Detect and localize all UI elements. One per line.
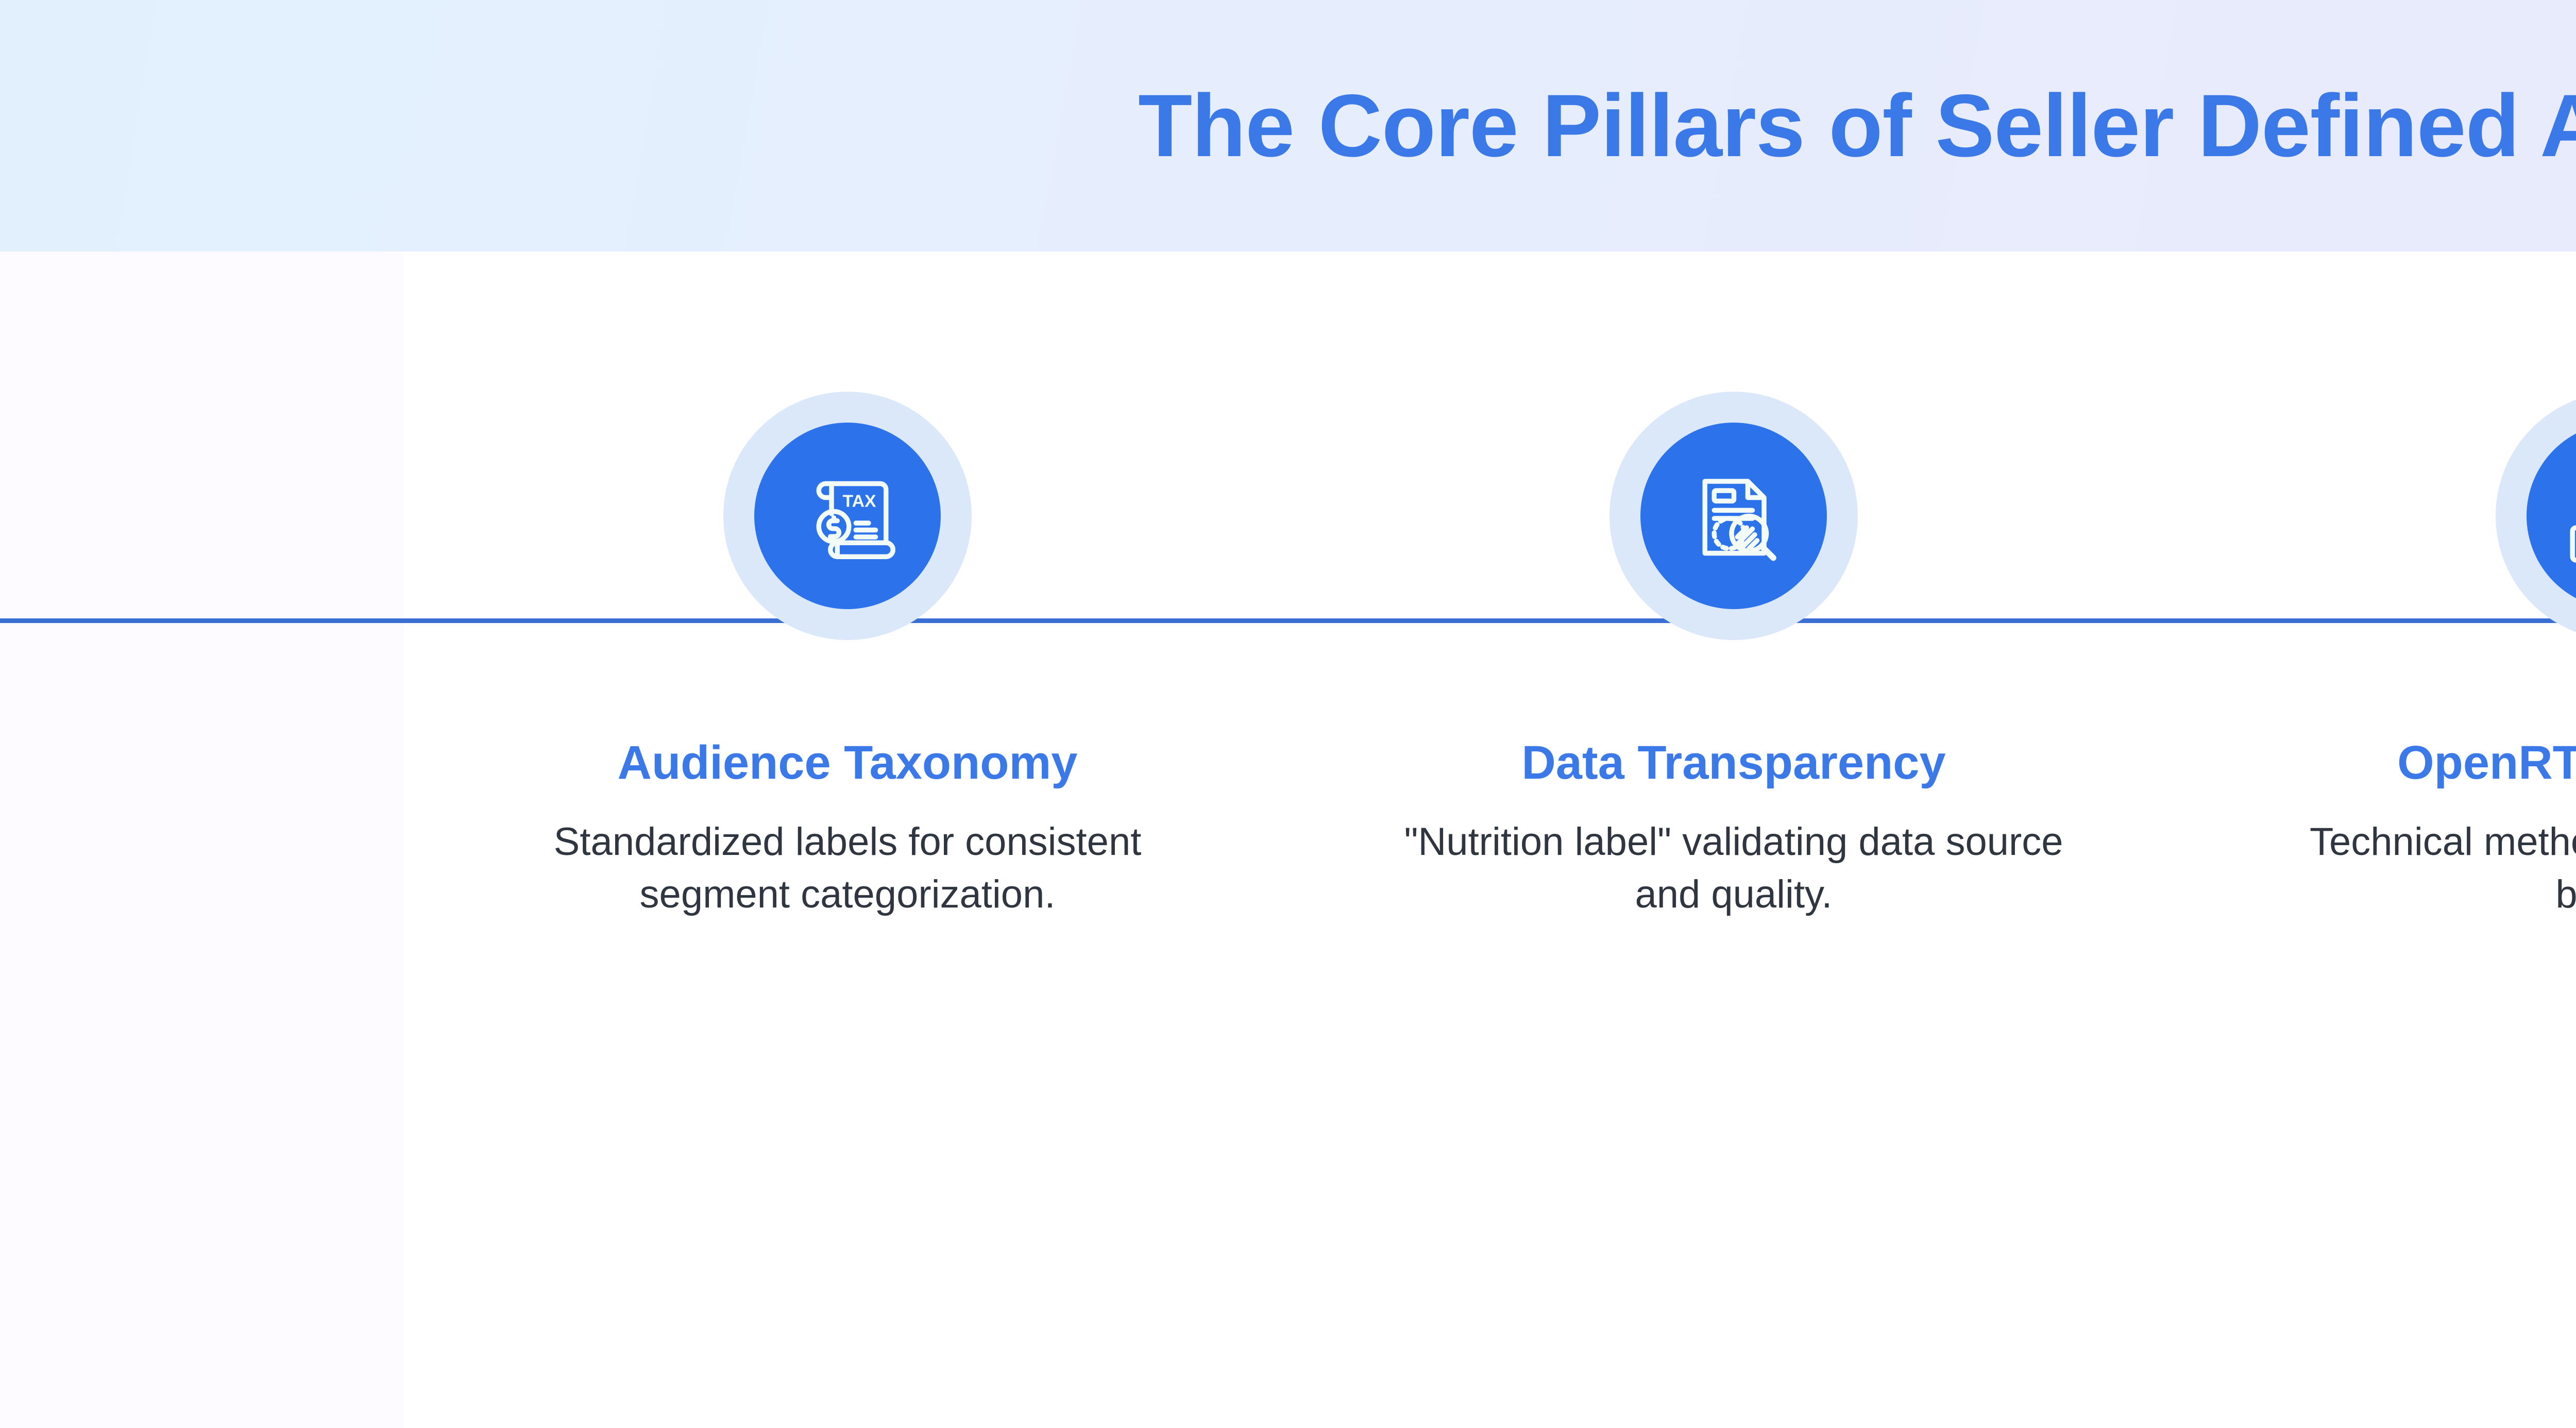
icon-ring <box>2496 392 2576 640</box>
pillar-openrtb-signaling[interactable]: OpenRTB Signaling Technical method for p… <box>2177 251 2576 1428</box>
pillar-audience-taxonomy[interactable]: TAX Audience Taxonomy Standardized label… <box>404 251 1291 1428</box>
header-banner: The Core Pillars of Seller Defined Audie… <box>0 0 2576 251</box>
pillar-description: Technical method for passing IDs to buye… <box>2285 816 2576 921</box>
icon-disc <box>2527 423 2576 609</box>
pillar-title: Audience Taxonomy <box>618 737 1078 789</box>
tax-document-icon: TAX <box>790 458 906 574</box>
pillar-title: OpenRTB Signaling <box>2397 737 2576 789</box>
icon-disc <box>1640 423 1827 609</box>
pillar-title: Data Transparency <box>1521 737 1945 789</box>
pillar-description: Standardized labels for consistent segme… <box>513 816 1182 921</box>
hand-gear-check-icon <box>2562 458 2576 574</box>
page-title: The Core Pillars of Seller Defined Audie… <box>1138 79 2576 173</box>
icon-ring <box>1609 392 1858 640</box>
svg-text:TAX: TAX <box>842 491 876 511</box>
icon-ring: TAX <box>723 392 972 640</box>
document-magnifier-icon <box>1676 458 1792 574</box>
pillar-description: "Nutrition label" validating data source… <box>1399 816 2069 921</box>
pillar-data-transparency[interactable]: Data Transparency "Nutrition label" vali… <box>1291 251 2177 1428</box>
icon-disc: TAX <box>754 423 941 609</box>
pillars-row: TAX Audience Taxonomy Standardized label… <box>0 251 2576 1428</box>
